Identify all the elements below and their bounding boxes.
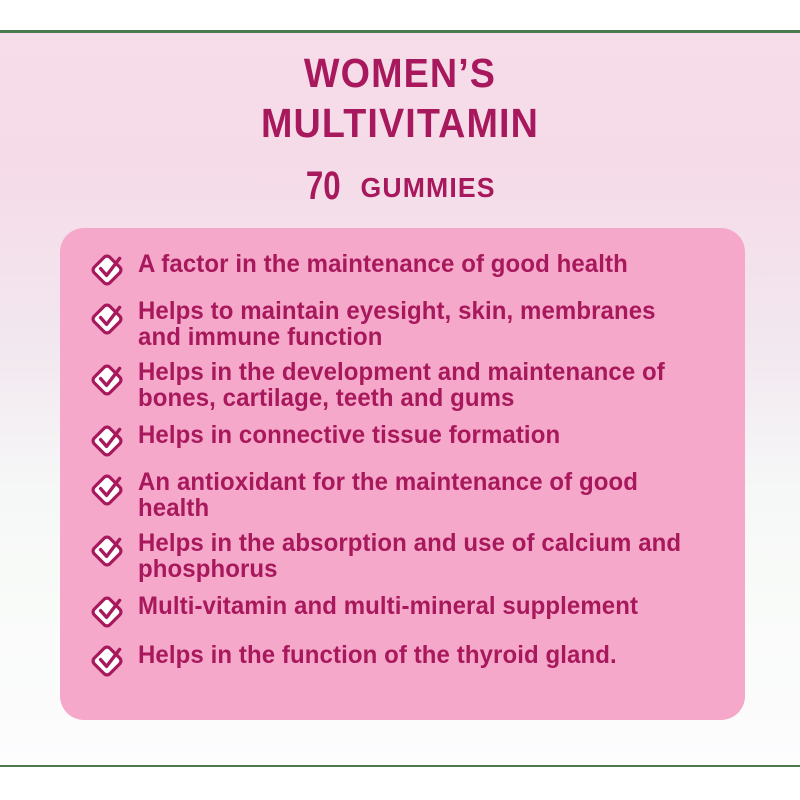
check-diamond-icon — [88, 249, 128, 289]
benefit-item: Helps in connective tissue formation — [88, 417, 721, 460]
page-title-line-2: MULTIVITAMIN — [32, 98, 768, 148]
check-diamond-icon — [88, 591, 128, 631]
check-diamond-icon — [88, 420, 128, 460]
benefit-item: Multi-vitamin and multi-mineral suppleme… — [88, 588, 721, 631]
benefit-item-text: A factor in the maintenance of good heal… — [138, 246, 628, 277]
benefit-item-text: Helps in connective tissue formation — [138, 417, 560, 448]
gummy-count-number: 70 — [306, 164, 341, 209]
product-heading: WOMEN’S MULTIVITAMIN 70GUMMIES — [0, 48, 800, 209]
check-diamond-icon — [88, 469, 128, 509]
benefit-item: An antioxidant for the maintenance of go… — [88, 466, 721, 521]
gummy-count-label: GUMMIES — [361, 172, 496, 204]
benefit-item-text: Multi-vitamin and multi-mineral suppleme… — [138, 588, 638, 619]
benefit-item: Helps in the development and maintenance… — [88, 356, 721, 411]
gummy-count-row: 70GUMMIES — [0, 164, 800, 209]
benefit-item-text: Helps in the development and maintenance… — [138, 356, 698, 411]
benefits-card: A factor in the maintenance of good heal… — [60, 228, 745, 720]
benefit-item: Helps in the function of the thyroid gla… — [88, 637, 721, 680]
bottom-divider-rule — [0, 765, 800, 767]
benefit-item: Helps in the absorption and use of calci… — [88, 527, 721, 582]
product-label-panel: WOMEN’S MULTIVITAMIN 70GUMMIES A factor … — [0, 0, 800, 800]
benefit-item-text: Helps to maintain eyesight, skin, membra… — [138, 295, 698, 350]
benefit-item-text: An antioxidant for the maintenance of go… — [138, 466, 698, 521]
check-diamond-icon — [88, 530, 128, 570]
benefit-item-text: Helps in the absorption and use of calci… — [138, 527, 698, 582]
check-diamond-icon — [88, 298, 128, 338]
benefit-item-text: Helps in the function of the thyroid gla… — [138, 637, 617, 668]
check-diamond-icon — [88, 640, 128, 680]
benefit-item: A factor in the maintenance of good heal… — [88, 246, 721, 289]
page-title-line-1: WOMEN’S — [32, 48, 768, 98]
benefit-item: Helps to maintain eyesight, skin, membra… — [88, 295, 721, 350]
check-diamond-icon — [88, 359, 128, 399]
